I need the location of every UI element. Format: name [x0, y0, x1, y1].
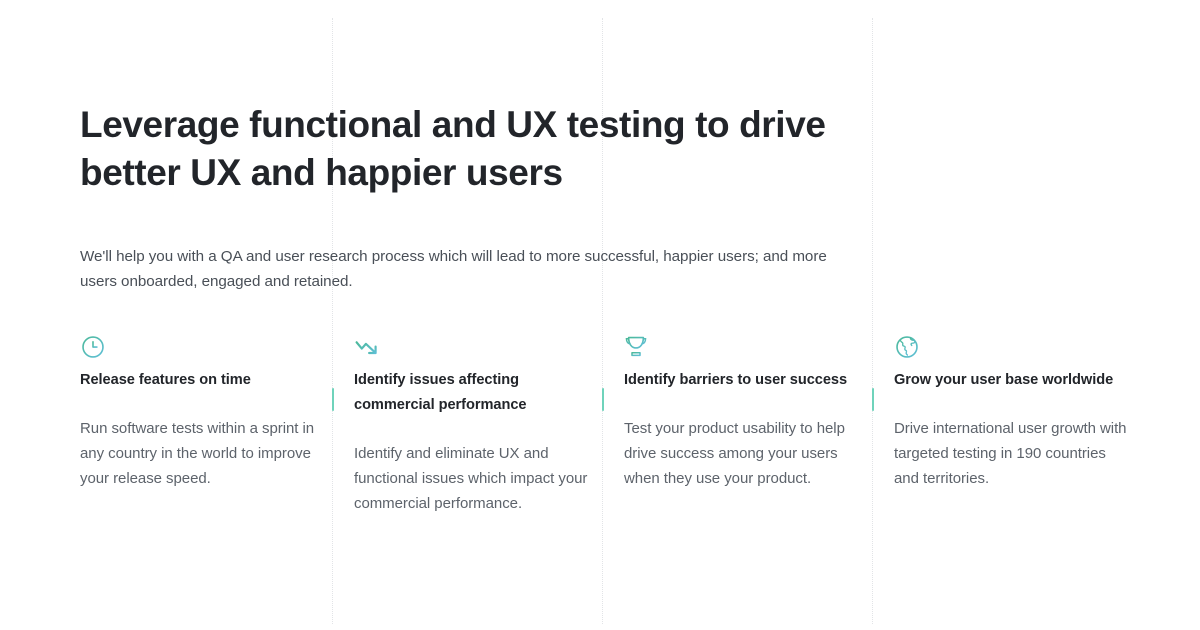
feature-title: Identify barriers to user success: [624, 368, 864, 393]
title-accent-bar: [602, 388, 604, 411]
page-subtitle: We'll help you with a QA and user resear…: [80, 244, 855, 294]
page-title: Leverage functional and UX testing to dr…: [80, 101, 870, 197]
feature-title: Grow your user base worldwide: [894, 368, 1134, 393]
title-accent-bar: [872, 388, 874, 411]
feature-body: Run software tests within a sprint in an…: [80, 416, 342, 491]
feature-body: Test your product usability to help driv…: [624, 416, 864, 491]
feature-column-list: Release features on time Run software te…: [0, 334, 1200, 614]
feature-title: Release features on time: [80, 368, 342, 393]
feature-column-grow-worldwide: Grow your user base worldwide Drive inte…: [872, 334, 1134, 491]
globe-icon: [894, 334, 1134, 368]
feature-column-user-success: Identify barriers to user success Test y…: [602, 334, 864, 491]
feature-body: Identify and eliminate UX and functional…: [354, 441, 594, 516]
feature-title: Identify issues affecting commercial per…: [354, 368, 594, 418]
clock-icon: [80, 334, 342, 368]
trophy-icon: [624, 334, 864, 368]
feature-body: Drive international user growth with tar…: [894, 416, 1134, 491]
feature-column-commercial-performance: Identify issues affecting commercial per…: [332, 334, 594, 516]
hero-feature-section: Leverage functional and UX testing to dr…: [0, 0, 1200, 630]
trend-down-icon: [354, 334, 594, 368]
title-accent-bar: [332, 388, 334, 411]
feature-column-release-features: Release features on time Run software te…: [80, 334, 342, 491]
